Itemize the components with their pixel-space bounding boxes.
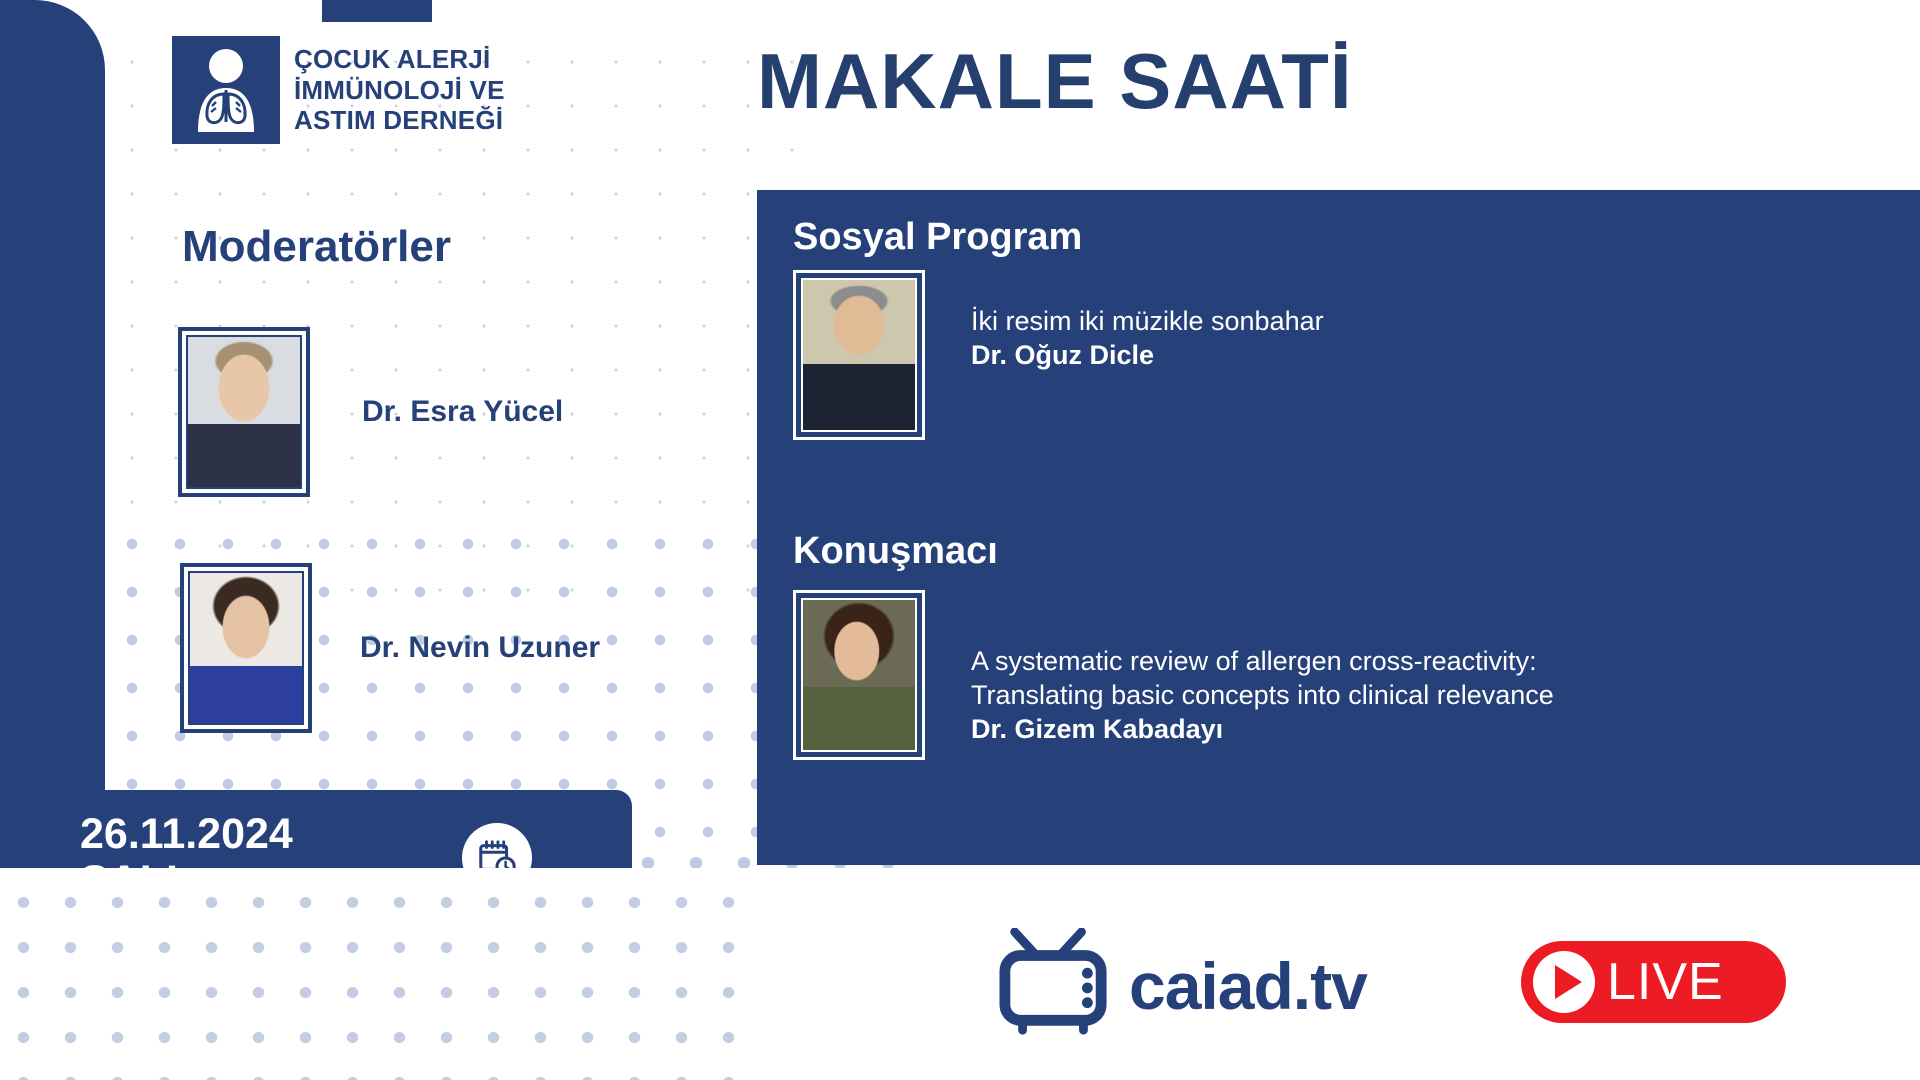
caiad-tv-brand[interactable]: caiad.tv [995,928,1367,1043]
moderator-item: Dr. Esra Yücel [178,327,563,497]
moderators-heading: Moderatörler [182,222,451,272]
avatar [180,563,312,733]
avatar [793,590,925,760]
moderator-name: Dr. Esra Yücel [362,395,563,429]
dot-pattern-footer [0,880,760,1080]
program-panel: Sosyal Program İki resim iki müzikle son… [757,190,1920,865]
moderator-item: Dr. Nevin Uzuner [180,563,600,733]
speaker-name: Dr. Gizem Kabadayı [971,714,1554,745]
speaker-name: Dr. Oğuz Dicle [971,340,1324,371]
person-lungs-icon [172,36,280,144]
live-badge[interactable]: LIVE [1521,941,1786,1023]
organization-name: ÇOCUK ALERJİ İMMÜNOLOJİ VE ASTIM DERNEĞİ [294,44,505,136]
social-program-item: İki resim iki müzikle sonbahar Dr. Oğuz … [793,270,1324,440]
avatar [178,327,310,497]
social-program-heading: Sosyal Program [793,216,1082,259]
moderator-name: Dr. Nevin Uzuner [360,631,600,665]
top-accent-tab [322,0,432,22]
avatar [793,270,925,440]
brand-label: caiad.tv [1129,948,1367,1024]
play-icon [1533,951,1595,1013]
page-title: MAKALE SAATİ [757,42,1353,120]
talk-title: İki resim iki müzikle sonbahar [971,304,1324,338]
speaker-program-item: A systematic review of allergen cross-re… [793,590,1554,760]
retro-tv-icon [995,928,1113,1043]
talk-title: A systematic review of allergen cross-re… [971,644,1554,712]
live-label: LIVE [1607,952,1724,1012]
organization-logo: ÇOCUK ALERJİ İMMÜNOLOJİ VE ASTIM DERNEĞİ [172,36,505,144]
speaker-section-heading: Konuşmacı [793,530,998,573]
